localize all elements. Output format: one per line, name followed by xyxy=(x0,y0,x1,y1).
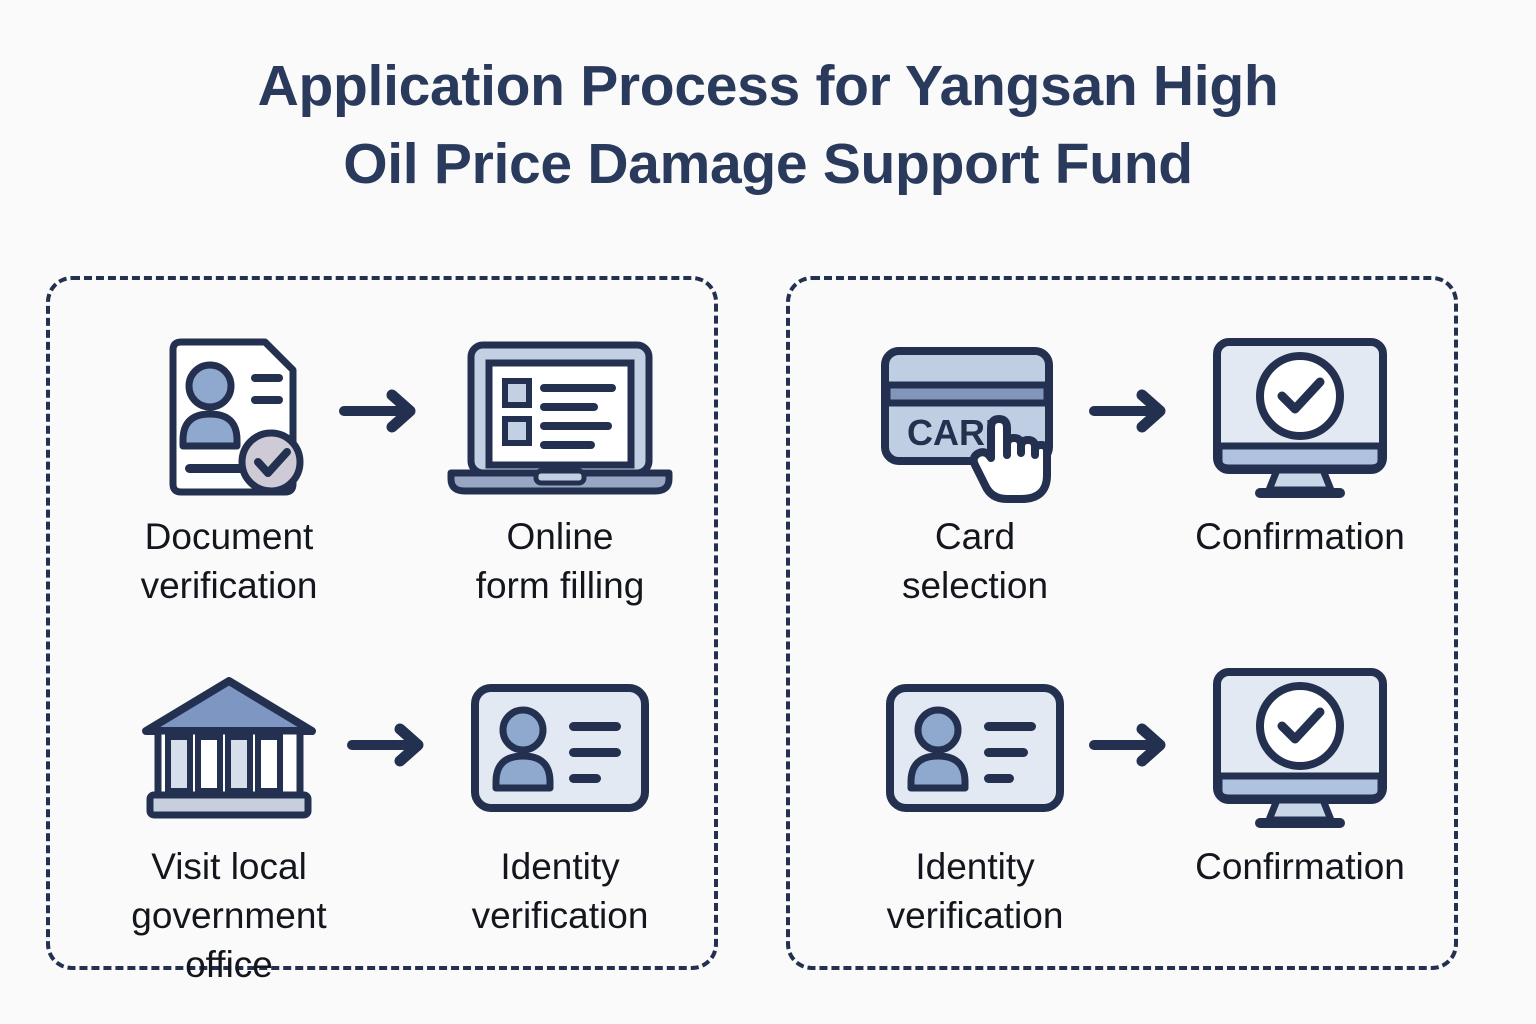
step-label-line-2: verification xyxy=(141,562,318,611)
credit-card-cursor-icon: CARD xyxy=(875,330,1075,505)
step-label: Visit local government office xyxy=(84,843,374,989)
id-card-icon xyxy=(882,660,1068,835)
step-label: Card selection xyxy=(902,513,1048,611)
step-card-selection[interactable]: CARD Card selection xyxy=(830,330,1120,611)
step-label: Confirmation xyxy=(1195,513,1405,562)
government-building-icon xyxy=(136,660,322,835)
step-label-line-1: Confirmation xyxy=(1195,513,1405,562)
step-label: Identity verification xyxy=(472,843,649,941)
page-title-line-2: Oil Price Damage Support Fund xyxy=(0,126,1536,204)
page-title-line-1: Application Process for Yangsan High xyxy=(0,48,1536,126)
arrow-right-icon xyxy=(340,388,426,434)
step-label-line-2: verification xyxy=(887,892,1064,941)
step-label-line-1: Identity xyxy=(472,843,649,892)
step-label-line-1: Document xyxy=(141,513,318,562)
step-identity-verification[interactable]: Identity verification xyxy=(415,660,705,941)
step-label-line-2: verification xyxy=(472,892,649,941)
step-visit-local-government-office[interactable]: Visit local government office xyxy=(84,660,374,989)
page-title: Application Process for Yangsan High Oil… xyxy=(0,48,1536,203)
document-verification-icon xyxy=(141,330,317,505)
step-label: Online form filling xyxy=(476,513,645,611)
step-label-line-1: Online xyxy=(476,513,645,562)
step-label: Document verification xyxy=(141,513,318,611)
step-label-line-1: Identity xyxy=(887,843,1064,892)
step-confirmation[interactable]: Confirmation xyxy=(1155,660,1445,892)
infographic-canvas: Application Process for Yangsan High Oil… xyxy=(0,0,1536,1024)
step-online-form-filling[interactable]: Online form filling xyxy=(415,330,705,611)
laptop-form-icon xyxy=(441,330,679,505)
id-card-icon xyxy=(467,660,653,835)
step-label: Confirmation xyxy=(1195,843,1405,892)
step-label-line-1: Card xyxy=(902,513,1048,562)
step-confirmation[interactable]: Confirmation xyxy=(1155,330,1445,562)
monitor-check-icon xyxy=(1205,660,1395,835)
step-identity-verification[interactable]: Identity verification xyxy=(830,660,1120,941)
step-label-line-2: selection xyxy=(902,562,1048,611)
monitor-check-icon xyxy=(1205,330,1395,505)
step-label-line-2: form filling xyxy=(476,562,645,611)
step-document-verification[interactable]: Document verification xyxy=(84,330,374,611)
step-label-line-1: Confirmation xyxy=(1195,843,1405,892)
step-label: Identity verification xyxy=(887,843,1064,941)
step-label-line-1: Visit local xyxy=(84,843,374,892)
step-label-line-2: government office xyxy=(84,892,374,990)
